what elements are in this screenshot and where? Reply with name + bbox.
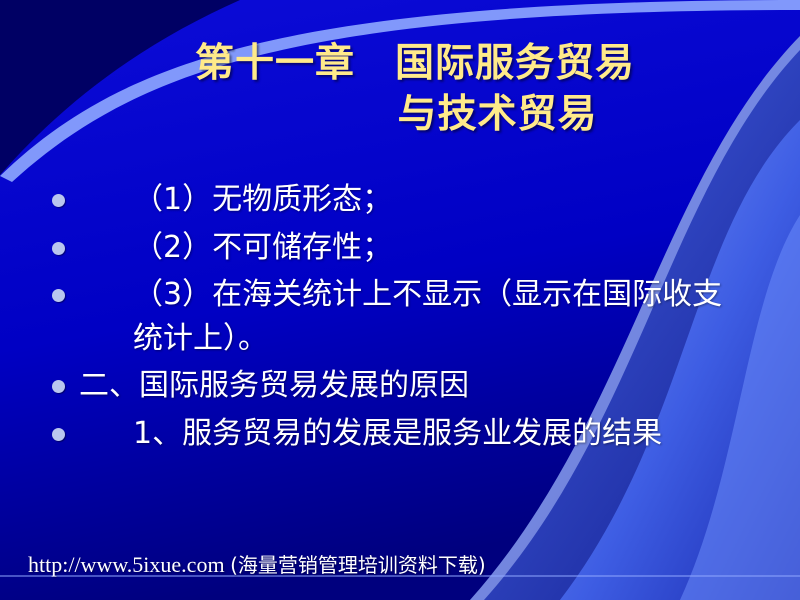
slide-title: 第十一章 国际服务贸易 与技术贸易 xyxy=(0,38,800,141)
bullet-dot-icon xyxy=(52,289,65,302)
bullet-dot-icon xyxy=(52,242,65,255)
bullet-text: （1）无物质形态； xyxy=(79,178,752,222)
bullet-list: （1）无物质形态； （2）不可储存性； （3）在海关统计上不显示（显示在国际收支… xyxy=(52,178,752,459)
footer-note: (海量营销管理培训资料下载) xyxy=(230,553,486,577)
bullet-dot-icon xyxy=(52,380,65,393)
bullet-text: （2）不可储存性； xyxy=(79,226,752,270)
list-item: 二、国际服务贸易发展的原因 xyxy=(52,364,752,408)
bullet-dot-icon xyxy=(52,428,65,441)
list-item: 1、服务贸易的发展是服务业发展的结果 xyxy=(52,412,752,456)
bullet-dot-icon xyxy=(52,194,65,207)
bullet-text: 1、服务贸易的发展是服务业发展的结果 xyxy=(79,412,752,456)
title-line-2: 与技术贸易 xyxy=(0,89,800,140)
slide-canvas: 第十一章 国际服务贸易 与技术贸易 （1）无物质形态； （2）不可储存性； （3… xyxy=(0,0,800,600)
list-item: （1）无物质形态； xyxy=(52,178,752,222)
bullet-text: 二、国际服务贸易发展的原因 xyxy=(79,364,752,408)
title-line-1: 第十一章 国际服务贸易 xyxy=(0,38,800,89)
list-item: （3）在海关统计上不显示（显示在国际收支统计上）。 xyxy=(52,273,752,360)
list-item: （2）不可储存性； xyxy=(52,226,752,270)
footer-url[interactable]: http://www.5ixue.com xyxy=(28,552,225,577)
slide-footer: http://www.5ixue.com (海量营销管理培训资料下载) xyxy=(28,549,486,578)
bullet-text: （3）在海关统计上不显示（显示在国际收支统计上）。 xyxy=(79,273,752,360)
